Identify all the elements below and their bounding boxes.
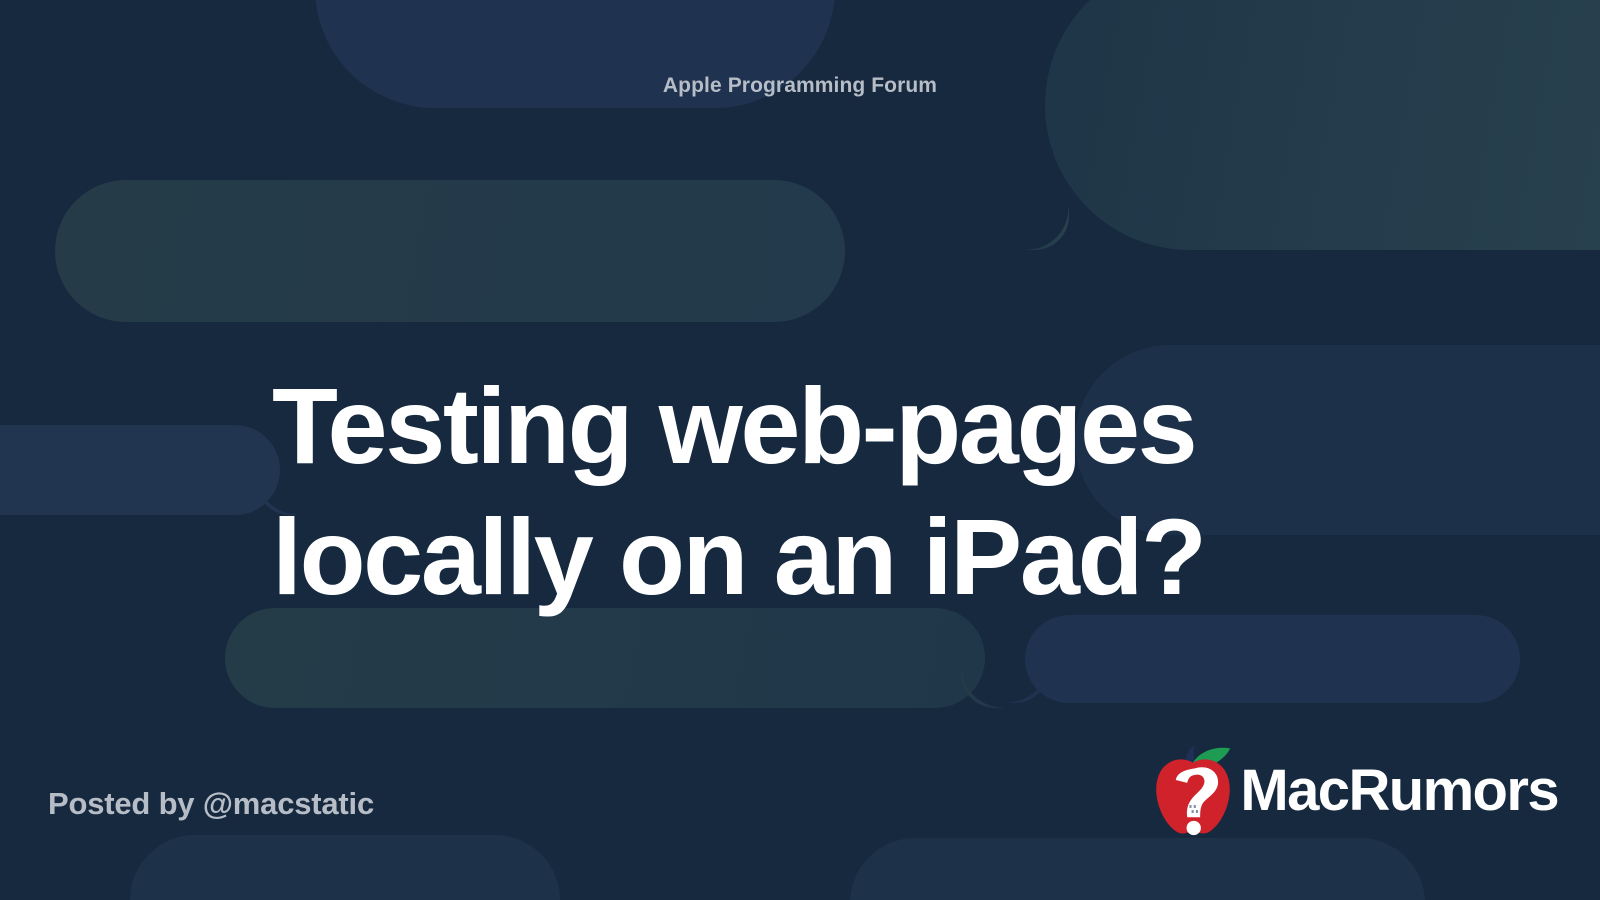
card-content: Apple Programming Forum Testing web-page… [0, 0, 1600, 900]
macrumors-apple-question-mark-icon [1150, 744, 1236, 836]
forum-share-card: Apple Programming Forum Testing web-page… [0, 0, 1600, 900]
forum-name-label: Apple Programming Forum [0, 74, 1600, 98]
posted-by-label: Posted by @macstatic [48, 786, 374, 822]
post-title: Testing web-pages locally on an iPad? [272, 360, 1352, 622]
macrumors-wordmark: MacRumors [1240, 762, 1558, 820]
macrumors-brand-lockup: MacRumors [1150, 744, 1558, 838]
